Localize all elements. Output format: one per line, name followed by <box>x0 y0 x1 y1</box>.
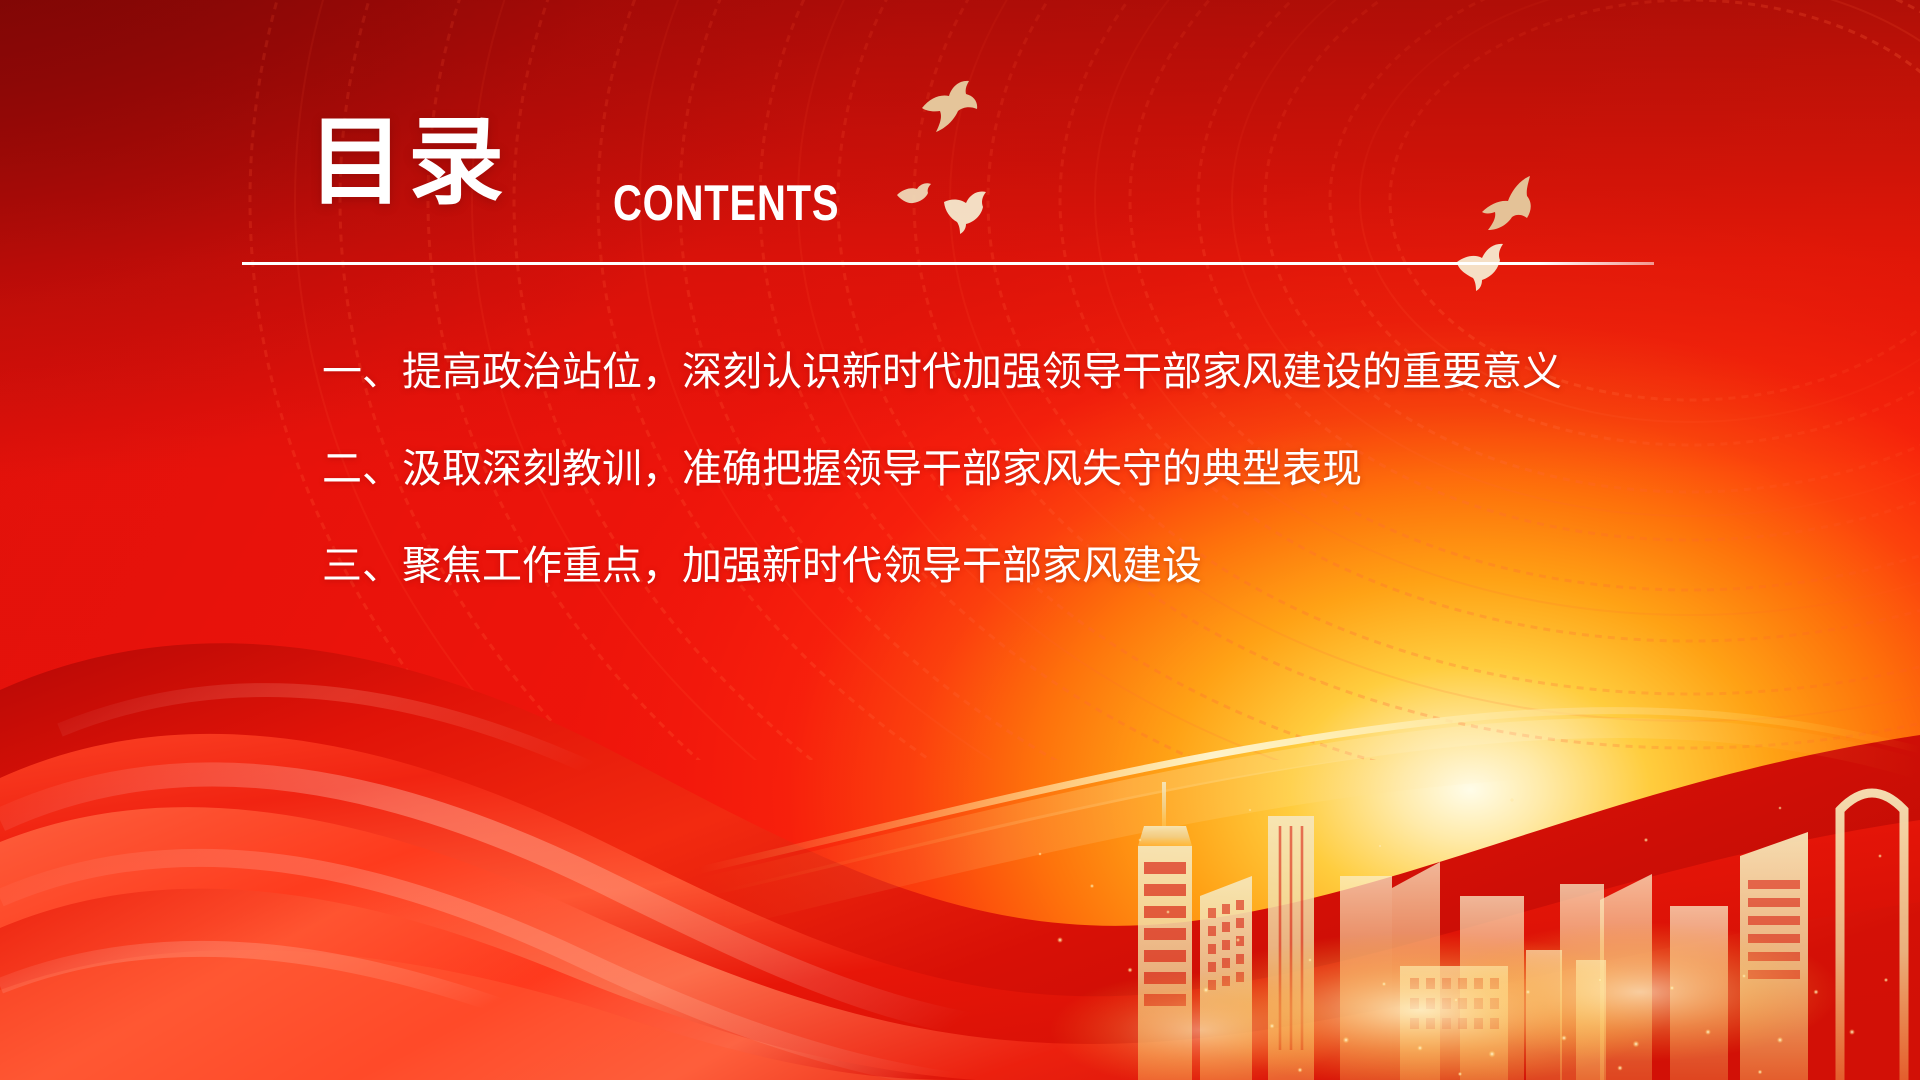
page-subtitle: CONTENTS <box>613 178 839 228</box>
toc-item-3[interactable]: 三、聚焦工作重点，加强新时代领导干部家风建设 <box>322 546 1722 586</box>
page-title: 目录 <box>308 114 508 210</box>
slide-canvas: 目录 CONTENTS 一、提高政治站位，深刻认识新时代加强领导干部家风建设的重… <box>0 0 1920 1080</box>
toc-item-1[interactable]: 一、提高政治站位，深刻认识新时代加强领导干部家风建设的重要意义 <box>322 352 1722 392</box>
header-divider <box>242 262 1654 265</box>
slide-header: 目录 CONTENTS <box>0 0 1920 300</box>
toc-list: 一、提高政治站位，深刻认识新时代加强领导干部家风建设的重要意义 二、汲取深刻教训… <box>322 352 1722 586</box>
toc-item-2[interactable]: 二、汲取深刻教训，准确把握领导干部家风失守的典型表现 <box>322 449 1722 489</box>
